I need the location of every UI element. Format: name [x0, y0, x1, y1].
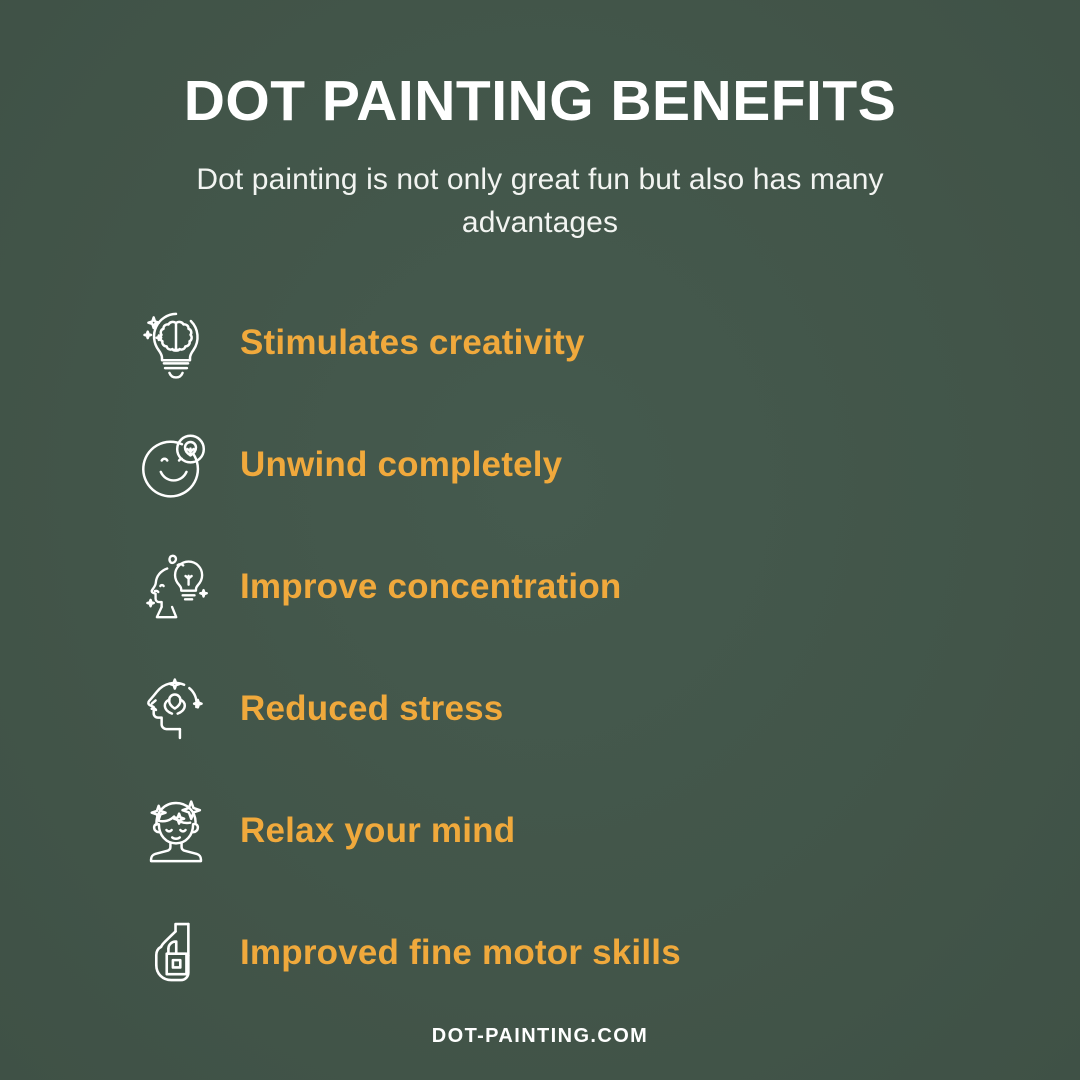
list-item: Improve concentration	[134, 541, 622, 633]
benefits-list: Stimulates creativity Unwind completely	[0, 297, 1080, 999]
lightbulb-brain-sparkle-icon	[134, 301, 218, 385]
benefit-label: Unwind completely	[240, 445, 562, 485]
benefit-label: Relax your mind	[240, 811, 515, 851]
benefit-label: Reduced stress	[240, 689, 503, 729]
poster-canvas: DOT PAINTING BENEFITS Dot painting is no…	[0, 0, 1080, 1080]
list-item: Reduced stress	[134, 663, 503, 755]
list-item: Stimulates creativity	[134, 297, 585, 389]
website-url: DOT-PAINTING.COM	[432, 1025, 648, 1047]
benefit-label: Stimulates creativity	[240, 323, 585, 363]
head-profile-lightbulb-icon	[134, 545, 218, 629]
benefit-label: Improved fine motor skills	[240, 933, 681, 973]
poster-footer: DOT-PAINTING.COM	[0, 1025, 1080, 1048]
relaxed-face-sparkle-icon	[134, 789, 218, 873]
smiling-face-flower-icon	[134, 423, 218, 507]
list-item: Unwind completely	[134, 419, 562, 511]
list-item: Improved fine motor skills	[134, 907, 681, 999]
hand-holding-block-icon	[134, 911, 218, 995]
head-profile-lotus-sparkle-icon	[134, 667, 218, 751]
list-item: Relax your mind	[134, 785, 515, 877]
benefit-label: Improve concentration	[240, 567, 622, 607]
page-title: DOT PAINTING BENEFITS	[0, 72, 1080, 132]
page-subtitle: Dot painting is not only great fun but a…	[145, 158, 935, 245]
poster-header: DOT PAINTING BENEFITS Dot painting is no…	[0, 0, 1080, 245]
